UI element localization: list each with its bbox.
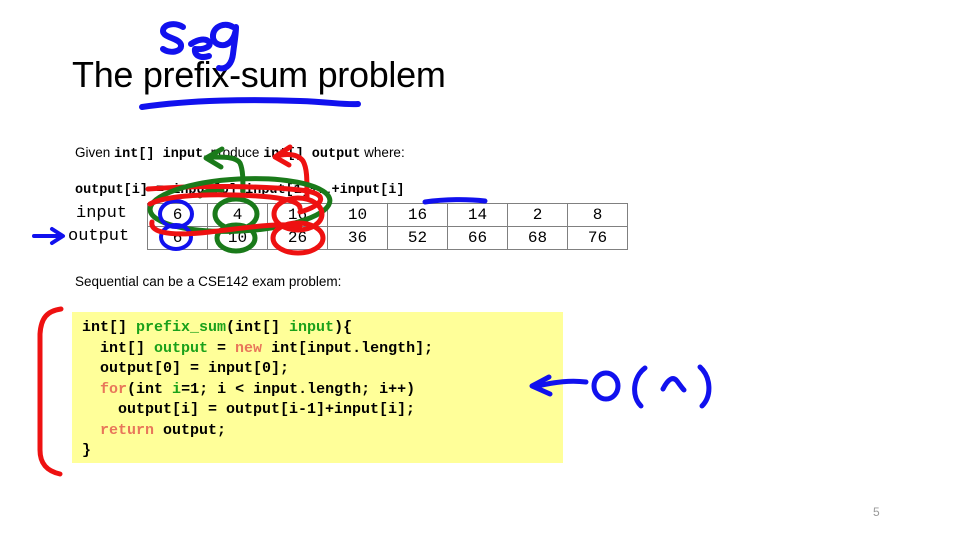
array-table: 6 4 16 10 16 14 2 8 6 10 26 36 52 66 68 … (147, 203, 628, 250)
output-cell: 76 (568, 227, 628, 250)
code-token: output; (154, 422, 226, 439)
code-token (82, 422, 100, 439)
code-line: for(int i=1; i < input.length; i++) (82, 380, 563, 401)
code-token: new (235, 340, 262, 357)
big-o-handwriting-icon (594, 367, 709, 406)
code-line: output[0] = input[0]; (82, 359, 563, 380)
code-block: int[] prefix_sum(int[] input){ int[] out… (72, 312, 563, 463)
given-code-input: int[] input (114, 147, 203, 162)
code-token: output[i] = output[i-1]+input[i]; (82, 401, 415, 418)
input-cell: 2 (508, 204, 568, 227)
code-token: =1; i < input.length; i++) (181, 381, 415, 398)
code-token (82, 381, 100, 398)
code-token: int[input.length]; (262, 340, 433, 357)
code-line: int[] prefix_sum(int[] input){ (82, 318, 563, 339)
code-token: return (100, 422, 154, 439)
output-cell: 66 (448, 227, 508, 250)
input-cell: 10 (328, 204, 388, 227)
output-cell: 52 (388, 227, 448, 250)
input-row-label: input (76, 204, 127, 223)
output-cell: 6 (148, 227, 208, 250)
problem-statement: Given int[] input, produce int[] output … (75, 145, 405, 162)
code-token: prefix_sum (136, 319, 226, 336)
code-token: int[] (82, 319, 136, 336)
code-line: output[i] = output[i-1]+input[i]; (82, 400, 563, 421)
output-row-label: output (68, 227, 129, 246)
given-suffix: where: (360, 145, 404, 160)
code-token: i (172, 381, 181, 398)
code-token: output[0] = input[0]; (82, 360, 289, 377)
prefix-sum-formula: output[i] = input[0]+input[1]+…+input[i] (75, 181, 404, 198)
table-row-output: 6 10 26 36 52 66 68 76 (148, 227, 628, 250)
code-token: int[] (82, 340, 154, 357)
input-cell: 16 (268, 204, 328, 227)
page-number: 5 (873, 505, 880, 519)
code-token: = (208, 340, 235, 357)
formula-part-2: +input[i] (332, 183, 405, 198)
code-token: input (289, 319, 334, 336)
page-title: The prefix-sum problem (72, 54, 446, 96)
output-cell: 68 (508, 227, 568, 250)
code-token: output (154, 340, 208, 357)
code-token: } (82, 442, 91, 459)
output-cell: 10 (208, 227, 268, 250)
output-cell: 26 (268, 227, 328, 250)
given-middle: , produce (203, 145, 263, 160)
input-cell: 4 (208, 204, 268, 227)
given-code-output: int[] output (263, 147, 360, 162)
blue-cell-underline-icon (425, 200, 485, 202)
formula-part-1: output[i] = input[0]+input[1]+ (75, 183, 318, 198)
code-line: } (82, 441, 563, 462)
code-token: for (100, 381, 127, 398)
output-cell: 36 (328, 227, 388, 250)
input-cell: 16 (388, 204, 448, 227)
slide-canvas: The prefix-sum problem Given int[] input… (0, 0, 960, 540)
input-cell: 8 (568, 204, 628, 227)
code-line: int[] output = new int[input.length]; (82, 339, 563, 360)
title-underline-icon (142, 100, 358, 107)
table-row-input: 6 4 16 10 16 14 2 8 (148, 204, 628, 227)
input-cell: 6 (148, 204, 208, 227)
formula-ellipsis: … (318, 181, 332, 196)
code-line: return output; (82, 421, 563, 442)
code-token: (int[] (226, 319, 289, 336)
sequential-note: Sequential can be a CSE142 exam problem: (75, 274, 341, 289)
given-prefix: Given (75, 145, 114, 160)
code-token: ){ (334, 319, 352, 336)
code-token: (int (127, 381, 172, 398)
blue-row-arrow-icon (34, 229, 63, 243)
red-bracket-code-icon (40, 309, 61, 474)
input-cell: 14 (448, 204, 508, 227)
